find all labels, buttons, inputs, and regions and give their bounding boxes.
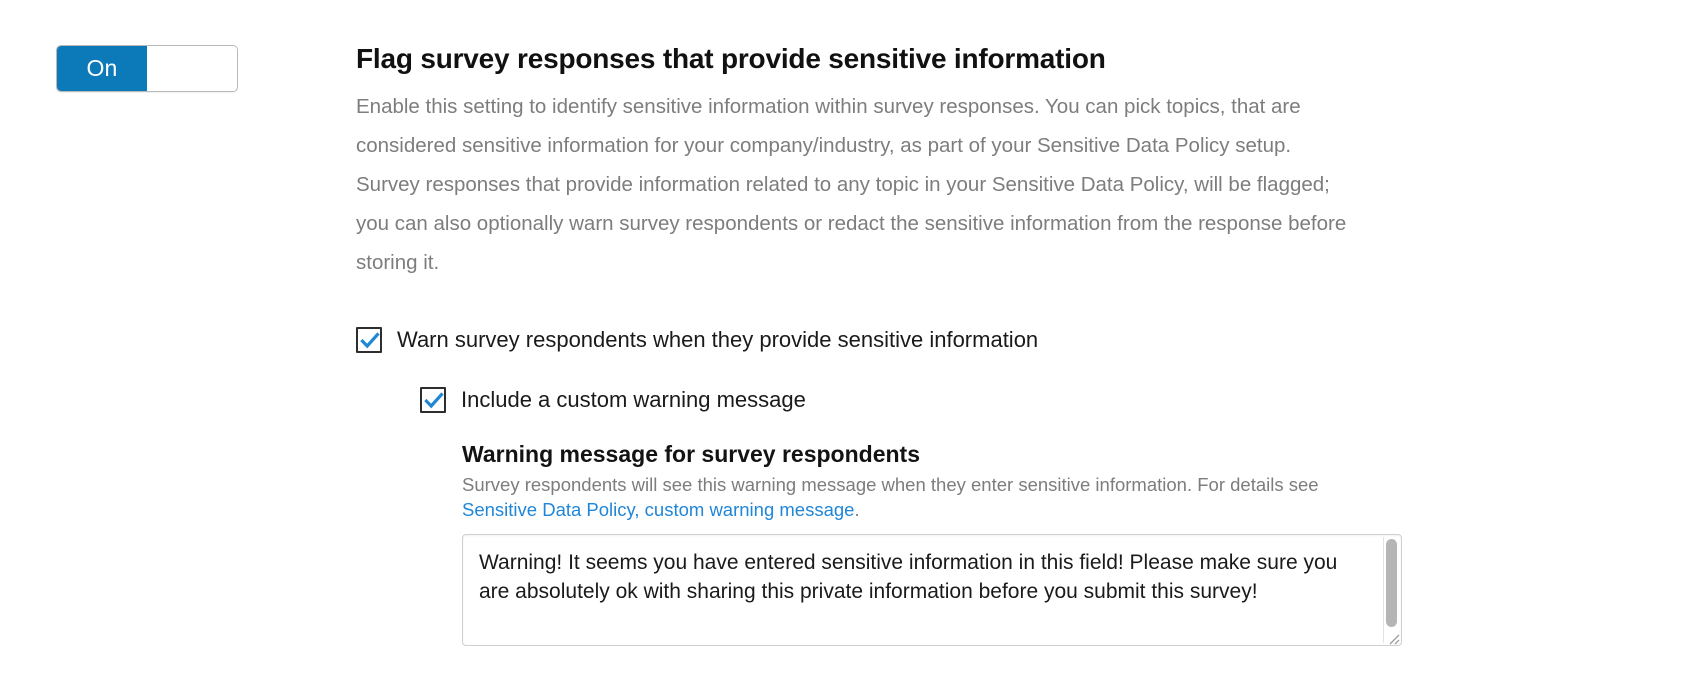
checkbox-include-custom-warning[interactable] <box>420 387 446 413</box>
page-title: Flag survey responses that provide sensi… <box>356 0 1676 76</box>
toggle-on-label: On <box>57 46 147 91</box>
checkbox-row-custom-warning[interactable]: Include a custom warning message <box>420 387 1676 413</box>
textarea-scrollbar-thumb[interactable] <box>1386 539 1397 627</box>
flag-sensitive-info-toggle[interactable]: On <box>56 45 238 92</box>
warning-message-block: Warning message for survey respondents S… <box>462 441 1676 647</box>
textarea-resize-handle[interactable] <box>1386 631 1400 645</box>
warning-message-textarea[interactable] <box>462 534 1402 646</box>
toggle-off-track <box>147 46 237 91</box>
warning-message-help-text: Survey respondents will see this warning… <box>462 472 1382 522</box>
checkbox-label-warn-respondents: Warn survey respondents when they provid… <box>397 329 1038 351</box>
warning-message-heading: Warning message for survey respondents <box>462 441 1676 469</box>
sensitive-data-policy-link[interactable]: Sensitive Data Policy, custom warning me… <box>462 499 854 520</box>
checkmark-icon <box>423 390 445 412</box>
section-description: Enable this setting to identify sensitiv… <box>356 76 1356 282</box>
checkbox-warn-respondents[interactable] <box>356 327 382 353</box>
help-text-prefix: Survey respondents will see this warning… <box>462 474 1319 495</box>
textarea-scrollbar[interactable] <box>1383 537 1399 643</box>
help-text-suffix: . <box>854 499 859 520</box>
settings-panel: Flag survey responses that provide sensi… <box>356 0 1676 646</box>
checkmark-icon <box>359 330 381 352</box>
checkbox-label-include-custom-warning: Include a custom warning message <box>461 389 806 411</box>
warning-textarea-wrapper <box>462 534 1402 646</box>
checkbox-row-warn-respondents[interactable]: Warn survey respondents when they provid… <box>356 327 1676 353</box>
